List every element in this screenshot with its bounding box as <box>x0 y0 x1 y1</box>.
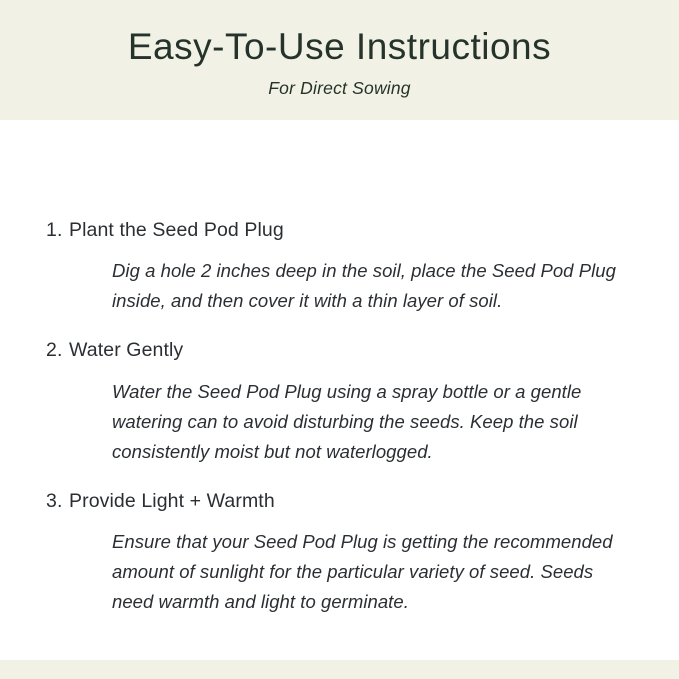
step-number: 3. <box>46 489 69 514</box>
page-subtitle: For Direct Sowing <box>0 78 679 99</box>
step-number: 1. <box>46 218 69 243</box>
step-title: Provide Light + Warmth <box>69 489 639 514</box>
step-description: Dig a hole 2 inches deep in the soil, pl… <box>112 256 639 316</box>
step-description: Water the Seed Pod Plug using a spray bo… <box>112 377 639 467</box>
step-heading: 3. Provide Light + Warmth <box>46 489 639 514</box>
instruction-card: Easy-To-Use Instructions For Direct Sowi… <box>0 0 679 679</box>
step-title: Water Gently <box>69 338 639 363</box>
list-item: 2. Water Gently Water the Seed Pod Plug … <box>46 338 639 466</box>
step-heading: 2. Water Gently <box>46 338 639 363</box>
list-item: 1. Plant the Seed Pod Plug Dig a hole 2 … <box>46 218 639 316</box>
step-heading: 1. Plant the Seed Pod Plug <box>46 218 639 243</box>
list-item: 3. Provide Light + Warmth Ensure that yo… <box>46 489 639 617</box>
instruction-steps-list: 1. Plant the Seed Pod Plug Dig a hole 2 … <box>46 218 639 617</box>
instructions-body: 1. Plant the Seed Pod Plug Dig a hole 2 … <box>0 120 679 660</box>
page-title: Easy-To-Use Instructions <box>0 26 679 69</box>
header-band: Easy-To-Use Instructions For Direct Sowi… <box>0 0 679 120</box>
step-number: 2. <box>46 338 69 363</box>
step-description: Ensure that your Seed Pod Plug is gettin… <box>112 527 639 617</box>
footer-band <box>0 660 679 679</box>
step-title: Plant the Seed Pod Plug <box>69 218 639 243</box>
